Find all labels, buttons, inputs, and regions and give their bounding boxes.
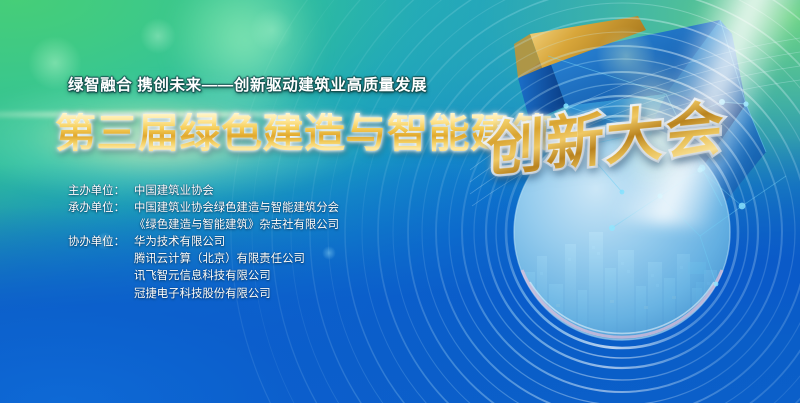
organizer-label: 主办单位：: [68, 183, 134, 200]
organizer-row: 承办单位： 中国建筑业协会绿色建造与智能建筑分会: [68, 200, 339, 217]
organizer-value: 腾讯云计算（北京）有限责任公司: [134, 251, 305, 268]
organizer-value: 中国建筑业协会绿色建造与智能建筑分会: [134, 200, 339, 217]
organizer-row: 协办单位： 华为技术有限公司: [68, 234, 339, 251]
organizer-row: 协办单位： 冠捷电子科技股份有限公司: [68, 286, 339, 303]
organizer-value: 冠捷电子科技股份有限公司: [134, 286, 271, 303]
organizer-value: 《绿色建造与智能建筑》杂志社有限公司: [134, 217, 339, 234]
organizer-row: 承办单位： 《绿色建造与智能建筑》杂志社有限公司: [68, 217, 339, 234]
main-title: 第三届绿色建造与智能建筑: [55, 113, 553, 154]
organizer-label: 协办单位：: [68, 234, 134, 251]
organizer-value: 华为技术有限公司: [134, 234, 225, 251]
bokeh-dot: [596, 26, 656, 86]
organizer-row: 主办单位： 中国建筑业协会: [68, 183, 339, 200]
organizer-list: 主办单位： 中国建筑业协会 承办单位： 中国建筑业协会绿色建造与智能建筑分会 承…: [68, 183, 339, 303]
conference-banner: 绿智融合 携创未来——创新驱动建筑业高质量发展 第三届绿色建造与智能建筑 第三届…: [0, 0, 800, 403]
organizer-value: 中国建筑业协会: [134, 183, 214, 200]
headline-text-column: 绿智融合 携创未来——创新驱动建筑业高质量发展 第三届绿色建造与智能建筑 第三届…: [0, 0, 520, 403]
organizer-value: 讯飞智元信息科技有限公司: [134, 268, 271, 285]
organizer-label: 承办单位：: [68, 200, 134, 217]
event-subtitle: 绿智融合 携创未来——创新驱动建筑业高质量发展: [68, 73, 427, 95]
organizer-row: 协办单位： 腾讯云计算（北京）有限责任公司: [68, 251, 339, 268]
organizer-row: 协办单位： 讯飞智元信息科技有限公司: [68, 268, 339, 285]
